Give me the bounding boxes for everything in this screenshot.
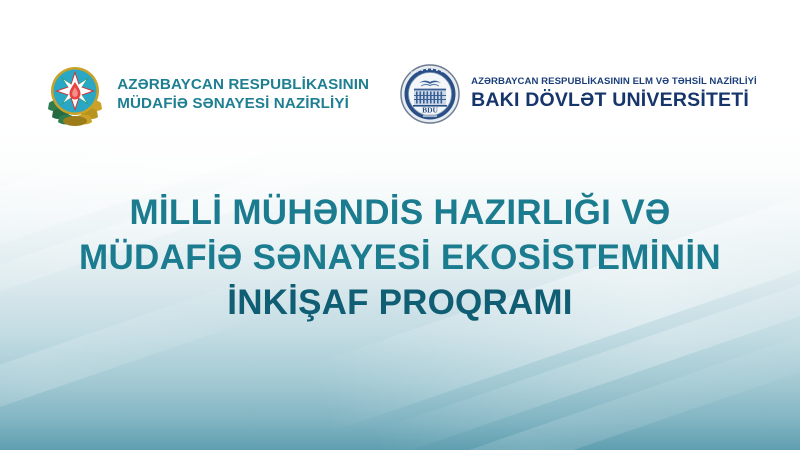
bdu-university-name: BAKI DÖVLƏT UNİVERSİTETİ: [471, 89, 757, 112]
bdu-seal-abbreviation: BDU: [422, 106, 438, 115]
azerbaijan-state-emblem-icon: [43, 59, 107, 129]
baku-state-university-label: AZƏRBAYCAN RESPUBLİKASININ ELM VƏ TƏHSİL…: [471, 76, 757, 112]
title-line-2: MÜDAFİƏ SƏNAYESİ EKOSİSTEMİNİN: [0, 235, 800, 280]
ministry-of-defence-industry-logo: AZƏRBAYCAN RESPUBLİKASININ MÜDAFİƏ SƏNAY…: [43, 59, 369, 129]
poster-title: MİLLİ MÜHƏNDİS HAZIRLIĞI VƏ MÜDAFİƏ SƏNA…: [0, 190, 800, 325]
baku-state-university-logo: BDU AZƏRBAYCAN RESPUBLİKASININ ELM VƏ TƏ…: [399, 63, 757, 125]
title-line-3: İNKİŞAF PROQRAMI: [0, 280, 800, 325]
logo-row: AZƏRBAYCAN RESPUBLİKASININ MÜDAFİƏ SƏNAY…: [0, 56, 800, 132]
bdu-ministry-subtitle: AZƏRBAYCAN RESPUBLİKASININ ELM VƏ TƏHSİL…: [471, 76, 757, 87]
title-line-1: MİLLİ MÜHƏNDİS HAZIRLIĞI VƏ: [0, 190, 800, 235]
banner-poster: AZƏRBAYCAN RESPUBLİKASININ MÜDAFİƏ SƏNAY…: [0, 0, 800, 450]
bdu-seal-icon: BDU: [399, 63, 461, 125]
ministry-of-defence-industry-label: AZƏRBAYCAN RESPUBLİKASININ MÜDAFİƏ SƏNAY…: [117, 75, 369, 114]
mod-label-line-2: MÜDAFİƏ SƏNAYESİ NAZİRLİYİ: [117, 94, 369, 113]
mod-label-line-1: AZƏRBAYCAN RESPUBLİKASININ: [117, 75, 369, 94]
